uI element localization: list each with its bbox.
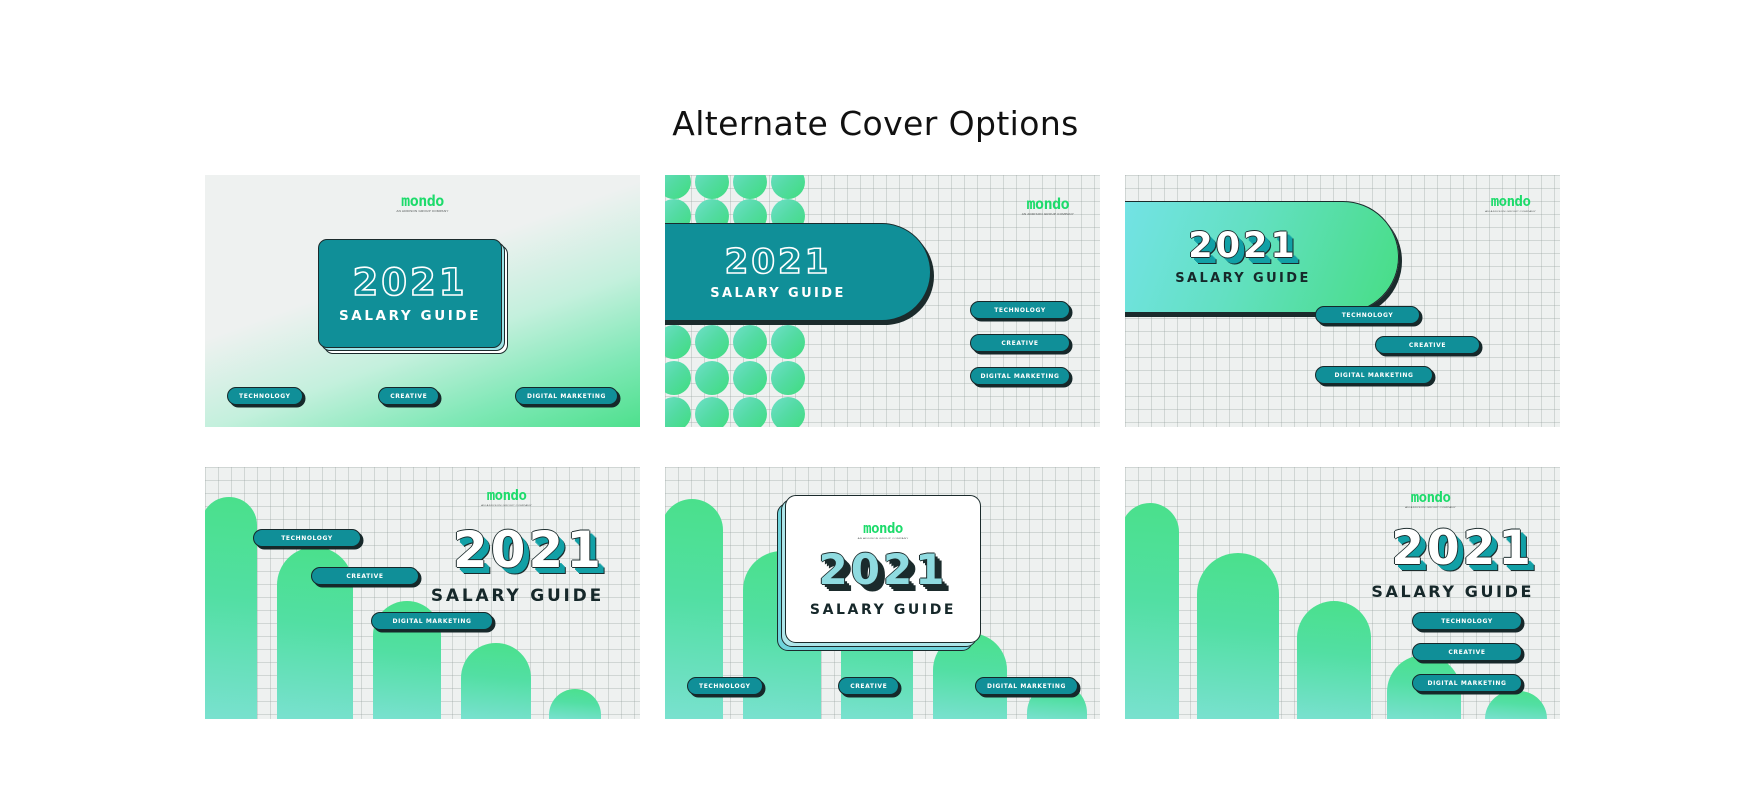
year-label: 2021 <box>819 549 948 591</box>
tag-digital-marketing[interactable]: DIGITAL MARKETING <box>515 387 618 405</box>
subtitle-label: SALARY GUIDE <box>1371 584 1534 600</box>
card-front: mondo AN ADDISON GROUP COMPANY 2021 SALA… <box>785 495 981 643</box>
cover-option-3[interactable]: 2021 SALARY GUIDE mondo AN ADDISON GROUP… <box>1125 175 1560 427</box>
mondo-logo: mondo AN ADDISON GROUP COMPANY <box>1022 197 1074 216</box>
cover-option-5[interactable]: mondo AN ADDISON GROUP COMPANY 2021 SALA… <box>665 467 1100 719</box>
tag-technology[interactable]: TECHNOLOGY <box>1412 612 1522 630</box>
logo-wordmark: mondo <box>1411 491 1451 505</box>
title-block: 2021 SALARY GUIDE <box>1371 525 1534 600</box>
tag-creative[interactable]: CREATIVE <box>1375 336 1480 354</box>
book-front-cover: 2021 SALARY GUIDE <box>318 239 502 348</box>
book-stack-graphic: 2021 SALARY GUIDE <box>318 239 508 354</box>
tag-group: TECHNOLOGY CREATIVE DIGITAL MARKETING <box>1125 175 1560 427</box>
tag-column: TECHNOLOGY CREATIVE DIGITAL MARKETING <box>1412 612 1522 692</box>
tag-digital-marketing[interactable]: DIGITAL MARKETING <box>1412 674 1522 692</box>
tag-creative[interactable]: CREATIVE <box>1412 643 1522 661</box>
logo-wordmark: mondo <box>863 522 903 536</box>
tag-technology[interactable]: TECHNOLOGY <box>227 387 303 405</box>
year-label: 2021 <box>725 245 832 279</box>
logo-tagline: AN ADDISON GROUP COMPANY <box>858 537 909 539</box>
tag-digital-marketing[interactable]: DIGITAL MARKETING <box>371 612 493 630</box>
logo-tagline: AN ADDISON GROUP COMPANY <box>396 210 448 212</box>
tag-creative[interactable]: CREATIVE <box>378 387 439 405</box>
cover-options-grid: mondo AN ADDISON GROUP COMPANY 2021 SALA… <box>205 175 1560 719</box>
year-label: 2021 <box>353 264 468 301</box>
mondo-logo: mondo AN ADDISON GROUP COMPANY <box>205 194 640 213</box>
tag-creative[interactable]: CREATIVE <box>838 677 899 695</box>
page-root: Alternate Cover Options mondo AN ADDISON… <box>0 0 1751 796</box>
tag-row: TECHNOLOGY CREATIVE DIGITAL MARKETING <box>687 677 1078 695</box>
subtitle-label: SALARY GUIDE <box>810 603 956 617</box>
cover-card-stack: mondo AN ADDISON GROUP COMPANY 2021 SALA… <box>785 495 985 650</box>
tag-digital-marketing[interactable]: DIGITAL MARKETING <box>970 367 1070 385</box>
cover-option-6[interactable]: mondo AN ADDISON GROUP COMPANY 2021 SALA… <box>1125 467 1560 719</box>
tag-creative[interactable]: CREATIVE <box>970 334 1070 352</box>
title-banner: 2021 SALARY GUIDE <box>665 223 931 321</box>
tag-digital-marketing[interactable]: DIGITAL MARKETING <box>1315 366 1433 384</box>
logo-wordmark: mondo <box>1027 197 1070 212</box>
subtitle-label: SALARY GUIDE <box>339 310 481 324</box>
tag-row: TECHNOLOGY CREATIVE DIGITAL MARKETING <box>227 387 618 405</box>
cover-option-2[interactable]: 2021 SALARY GUIDE mondo AN ADDISON GROUP… <box>665 175 1100 427</box>
year-label: 2021 <box>1371 525 1534 572</box>
tag-technology[interactable]: TECHNOLOGY <box>1315 306 1420 324</box>
tag-creative[interactable]: CREATIVE <box>311 567 419 585</box>
tag-group: TECHNOLOGY CREATIVE DIGITAL MARKETING <box>205 467 640 719</box>
logo-tagline: AN ADDISON GROUP COMPANY <box>1022 213 1074 215</box>
subtitle-label: SALARY GUIDE <box>710 287 846 300</box>
logo-tagline: AN ADDISON GROUP COMPANY <box>1405 506 1456 508</box>
tag-technology[interactable]: TECHNOLOGY <box>687 677 763 695</box>
page-title: Alternate Cover Options <box>0 104 1751 143</box>
tag-digital-marketing[interactable]: DIGITAL MARKETING <box>975 677 1078 695</box>
tag-technology[interactable]: TECHNOLOGY <box>970 301 1070 319</box>
mondo-logo: mondo AN ADDISON GROUP COMPANY <box>858 522 909 540</box>
mondo-logo: mondo AN ADDISON GROUP COMPANY <box>1405 491 1456 509</box>
logo-wordmark: mondo <box>401 194 444 209</box>
cover-option-4[interactable]: mondo AN ADDISON GROUP COMPANY 2021 SALA… <box>205 467 640 719</box>
cover-option-1[interactable]: mondo AN ADDISON GROUP COMPANY 2021 SALA… <box>205 175 640 427</box>
tag-technology[interactable]: TECHNOLOGY <box>253 529 361 547</box>
tag-column: TECHNOLOGY CREATIVE DIGITAL MARKETING <box>970 301 1070 385</box>
